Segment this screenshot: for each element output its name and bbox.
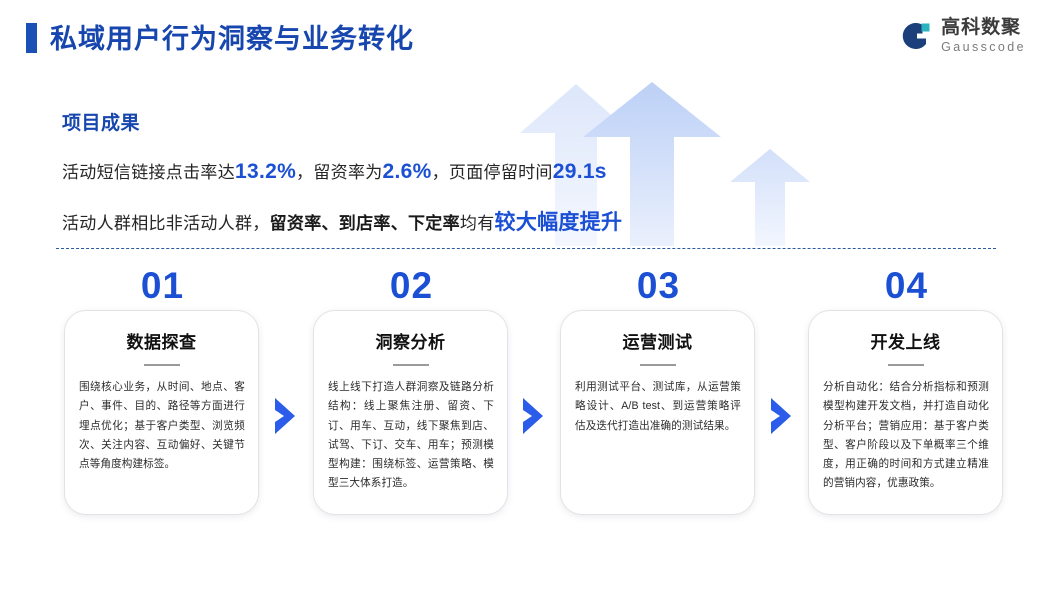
- page-header: 私域用户行为洞察与业务转化 高科数聚 Gausscode: [0, 0, 1048, 78]
- step-title-2: 洞察分析: [314, 328, 507, 353]
- project-results-section: 项目成果 活动短信链接点击率达13.2%，留资率为2.6%，页面停留时间29.1…: [62, 108, 862, 236]
- step-body-3: 利用测试平台、测试库，从运营策略设计、A/B test、到运营策略评估及迭代打造…: [575, 378, 741, 436]
- gausscode-logo-icon: [896, 18, 932, 54]
- step-card-4[interactable]: 04 开发上线 分析自动化：结合分析指标和预测模型构建开发文档，并打造自动化分析…: [808, 310, 1003, 515]
- step-number-1: 01: [65, 267, 260, 304]
- step-title-3: 运营测试: [561, 328, 754, 353]
- step-arrow-3: [768, 396, 794, 436]
- step-rule-4: [888, 364, 924, 366]
- step-rule-3: [640, 364, 676, 366]
- step-arrow-2: [520, 396, 546, 436]
- results-line2-text1: 活动人群相比非活动人群，: [62, 214, 270, 233]
- step-rule-1: [144, 364, 180, 366]
- section-divider: [56, 248, 996, 249]
- results-line1-text3: ，页面停留时间: [432, 163, 553, 182]
- step-card-3[interactable]: 03 运营测试 利用测试平台、测试库，从运营策略设计、A/B test、到运营策…: [560, 310, 755, 515]
- step-number-4: 04: [809, 267, 1004, 304]
- step-title-1: 数据探查: [65, 328, 258, 353]
- results-heading: 项目成果: [62, 108, 862, 135]
- step-card-1[interactable]: 01 数据探查 围绕核心业务，从时间、地点、客户、事件、目的、路径等方面进行埋点…: [64, 310, 259, 515]
- results-line1-text1: 活动短信链接点击率达: [62, 163, 235, 182]
- step-card-2[interactable]: 02 洞察分析 线上线下打造人群洞察及链路分析结构：线上聚焦注册、留资、下订、用…: [313, 310, 508, 515]
- step-arrow-1: [272, 396, 298, 436]
- metric-dwell-time: 29.1s: [553, 160, 607, 183]
- metric-click-rate: 13.2%: [235, 160, 296, 183]
- brand-logo: 高科数聚 Gausscode: [896, 18, 1026, 54]
- results-line2-highlight: 较大幅度提升: [495, 211, 623, 234]
- results-line1-text2: ，留资率为: [296, 163, 383, 182]
- metric-lead-rate: 2.6%: [383, 160, 432, 183]
- step-number-3: 03: [561, 267, 756, 304]
- results-line2-bold: 留资率、到店率、下定率: [270, 214, 460, 233]
- page-title: 私域用户行为洞察与业务转化: [50, 17, 414, 56]
- step-title-4: 开发上线: [809, 328, 1002, 353]
- results-line-1: 活动短信链接点击率达13.2%，留资率为2.6%，页面停留时间29.1s: [62, 158, 862, 184]
- step-rule-2: [393, 364, 429, 366]
- step-body-1: 围绕核心业务，从时间、地点、客户、事件、目的、路径等方面进行埋点优化；基于客户类…: [79, 378, 245, 474]
- step-body-2: 线上线下打造人群洞察及链路分析结构：线上聚焦注册、留资、下订、用车、互动，线下聚…: [328, 378, 494, 494]
- step-number-2: 02: [314, 267, 509, 304]
- logo-text-en: Gausscode: [941, 41, 1026, 54]
- step-body-4: 分析自动化：结合分析指标和预测模型构建开发文档，并打造自动化分析平台；营销应用：…: [823, 378, 989, 494]
- process-steps: 01 数据探查 围绕核心业务，从时间、地点、客户、事件、目的、路径等方面进行埋点…: [0, 268, 1048, 528]
- slide-root: 私域用户行为洞察与业务转化 高科数聚 Gausscode 项目成果 活动短信链接…: [0, 0, 1048, 591]
- title-accent-bar: [26, 23, 37, 53]
- logo-text-cn: 高科数聚: [941, 18, 1026, 37]
- results-line2-text2: 均有: [460, 214, 495, 233]
- results-line-2: 活动人群相比非活动人群，留资率、到店率、下定率均有较大幅度提升: [62, 206, 862, 236]
